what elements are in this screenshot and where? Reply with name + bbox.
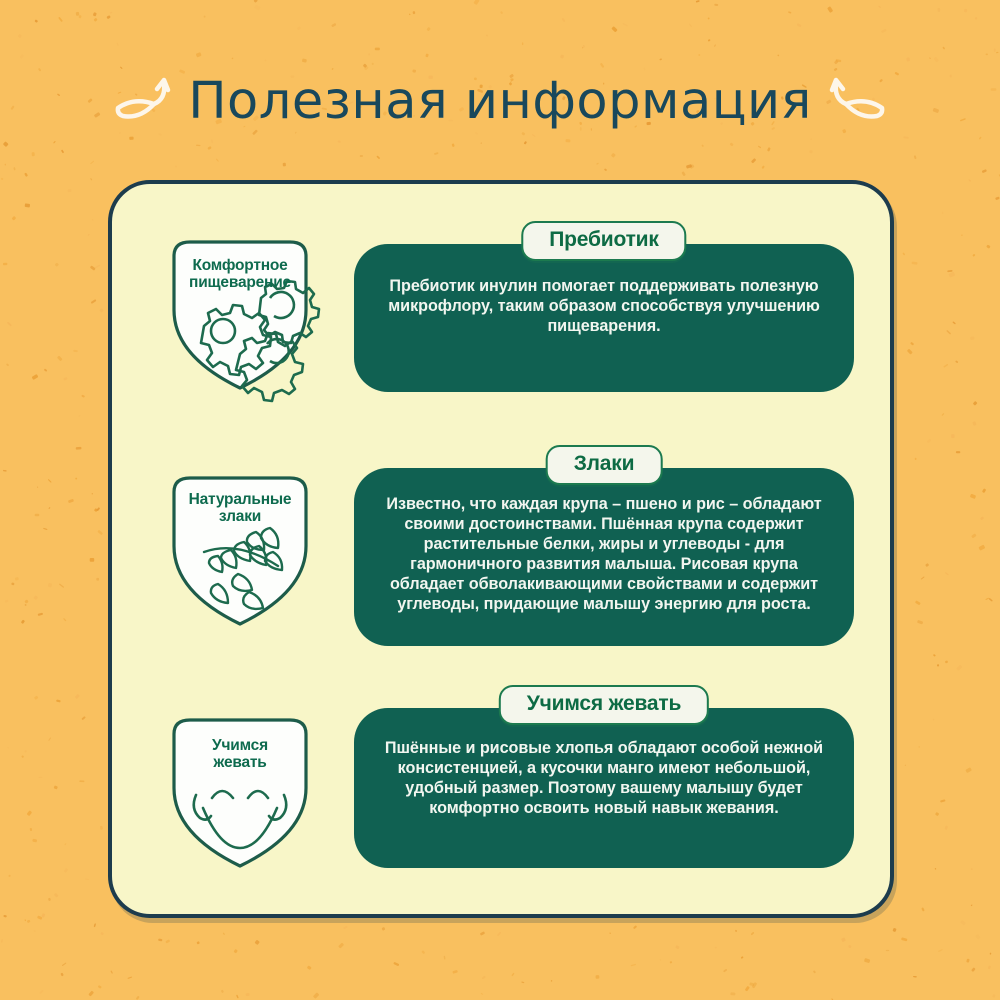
pill-chewing[interactable]: Учимся жевать [499, 685, 709, 725]
badge-digestion: Комфортное пищеварение [160, 230, 320, 398]
pill-prebiotic[interactable]: Пребиотик [521, 221, 686, 261]
info-block-chewing: Учимся жевать Учимся жевать Пшённые и ри… [112, 676, 898, 906]
smile-shield-icon [160, 708, 320, 876]
gears-shield-icon [160, 230, 320, 398]
badge-chewing: Учимся жевать [160, 708, 320, 876]
card-chewing: Учимся жевать Пшённые и рисовые хлопья о… [354, 708, 854, 868]
wheat-shield-icon [160, 466, 320, 634]
page-title: Полезная информация [188, 76, 812, 127]
page-header: Полезная информация [0, 62, 1000, 140]
card-wrap-grains: Злаки Известно, что каждая крупа – пшено… [354, 468, 854, 646]
leaf-swoosh-right-icon [828, 71, 890, 131]
pill-grains[interactable]: Злаки [546, 445, 663, 485]
leaf-swoosh-left-icon [110, 71, 172, 131]
card-wrap-chewing: Учимся жевать Пшённые и рисовые хлопья о… [354, 708, 854, 868]
badge-grains: Натуральные злаки [160, 466, 320, 634]
info-block-grains: Натуральные злаки Злаки Известно, что ка… [112, 434, 898, 674]
info-block-digestion: Комфортное пищеварение Пребиотик Пребиот… [112, 202, 898, 434]
card-body-grains: Известно, что каждая крупа – пшено и рис… [354, 468, 854, 614]
card-grains: Злаки Известно, что каждая крупа – пшено… [354, 468, 854, 646]
info-panel: Комфортное пищеварение Пребиотик Пребиот… [108, 180, 894, 918]
card-prebiotic: Пребиотик Пребиотик инулин помогает подд… [354, 244, 854, 392]
card-wrap-prebiotic: Пребиотик Пребиотик инулин помогает подд… [354, 244, 854, 392]
